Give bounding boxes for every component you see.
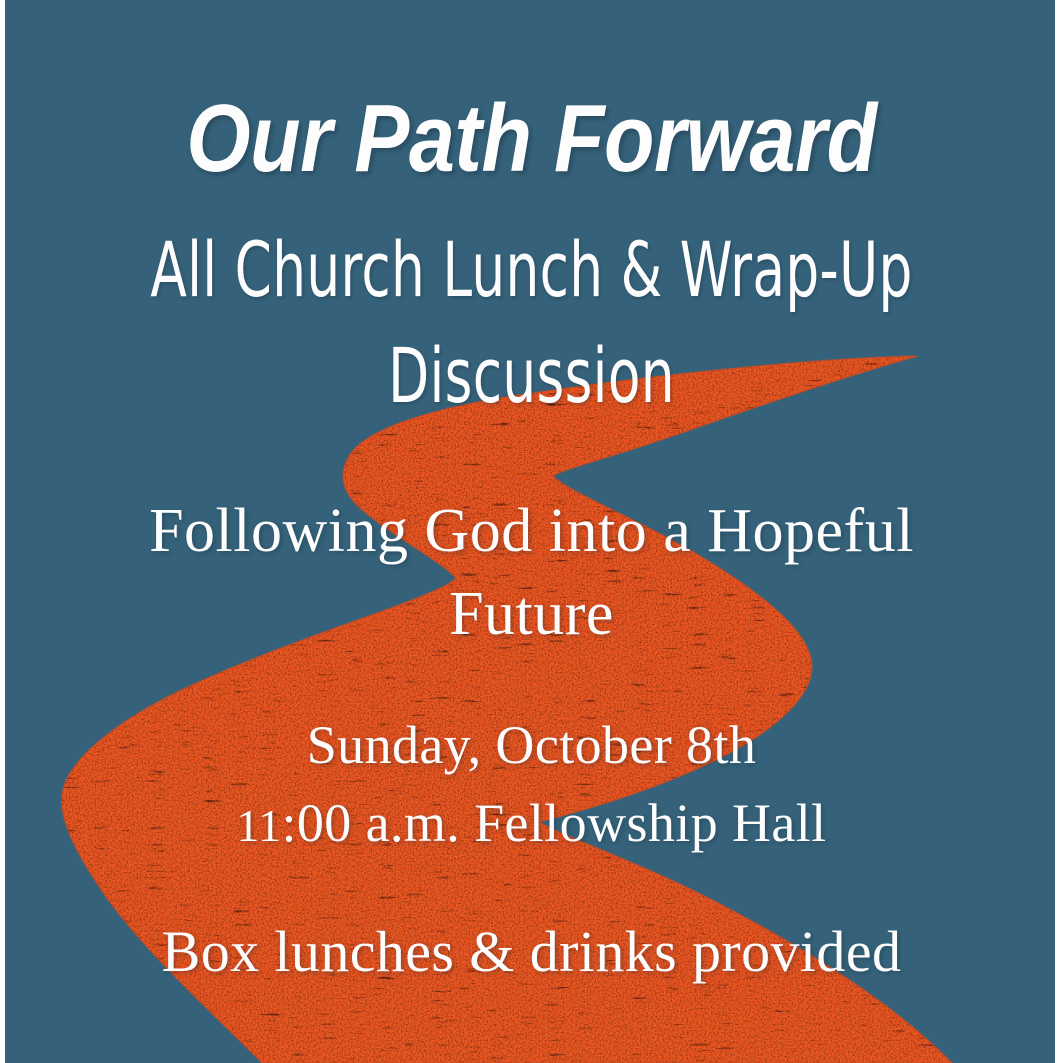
tagline-line-2: Future: [5, 579, 1055, 650]
poster-canvas: Our Path Forward All Church Lunch & Wrap…: [0, 0, 1063, 1063]
event-time-location: 11:00 a.m. Fellowship Hall: [5, 792, 1055, 854]
closing-note: Box lunches & drinks provided: [5, 918, 1055, 985]
event-date: Sunday, October 8th: [5, 714, 1055, 776]
tagline-line-1: Following God into a Hopeful: [5, 496, 1055, 567]
poster-artboard: Our Path Forward All Church Lunch & Wrap…: [5, 0, 1055, 1063]
subtitle-line-2: Discussion: [117, 331, 946, 420]
subtitle-line-1: All Church Lunch & Wrap-Up: [117, 225, 946, 314]
poster-text-layer: Our Path Forward All Church Lunch & Wrap…: [5, 0, 1055, 1063]
event-time-rest: :00 a.m. Fellowship Hall: [282, 793, 827, 853]
page-title: Our Path Forward: [74, 84, 988, 194]
event-time-hour: 11: [236, 800, 281, 851]
